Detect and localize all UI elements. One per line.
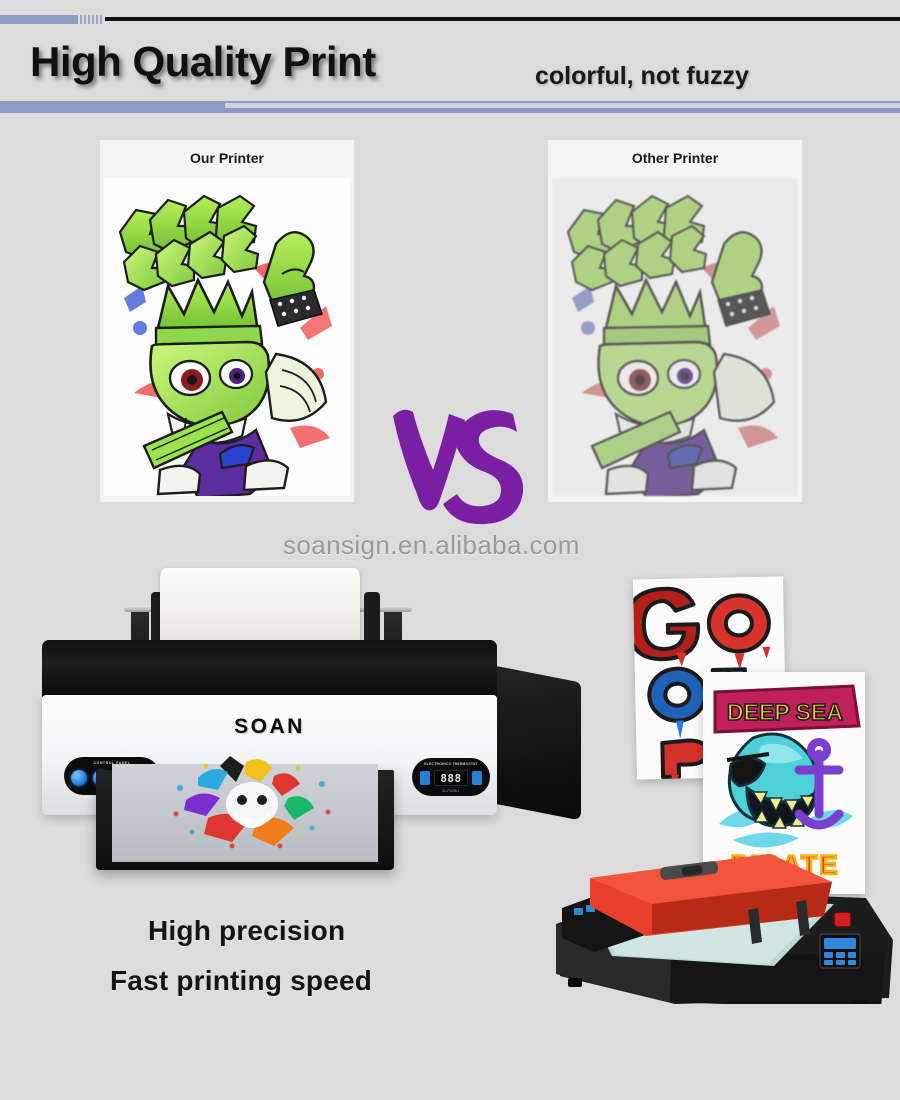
page-subtitle: colorful, not fuzzy <box>535 62 749 91</box>
panel-label-other-printer: Other Printer <box>548 150 802 166</box>
dtf-printer: SOAN CONTROL PANEL ELECTRONICS THERMOSTA… <box>36 515 606 895</box>
printer-side-housing <box>491 665 581 820</box>
printer-output-tray <box>96 770 394 870</box>
deep-sea-title-text: DEEP SEA <box>727 699 843 725</box>
caption-fast-printing-speed: Fast printing speed <box>110 965 372 997</box>
comparison-panel-our-printer: Our Printer <box>100 140 354 502</box>
bone-to-rock-artwork-fuzzy <box>552 178 798 496</box>
caption-high-precision: High precision <box>148 915 345 947</box>
header-bottom-bar-highlight <box>225 103 900 108</box>
thermostat-module[interactable]: ELECTRONICS THERMOSTAT 888 ZL-P100B-1 <box>412 758 490 796</box>
thermostat-display: 888 <box>434 770 468 786</box>
printer-brand-label: SOAN <box>42 715 497 739</box>
thermostat-label: ELECTRONICS THERMOSTAT <box>412 762 490 766</box>
vs-mark <box>385 392 525 532</box>
bone-to-rock-artwork-sharp <box>104 178 350 496</box>
page-title: High Quality Print <box>30 38 376 86</box>
header-stripe-decoration <box>80 15 102 24</box>
panel-label-our-printer: Our Printer <box>100 150 354 166</box>
comparison-panel-other-printer: Other Printer <box>548 140 802 502</box>
thermostat-model-label: ZL-P100B-1 <box>412 789 490 793</box>
watermark-url: soansign.en.alibaba.com <box>283 530 580 561</box>
thermostat-value: 888 <box>440 773 461 784</box>
header-accent-block <box>0 15 78 24</box>
banner-header: High Quality Print colorful, not fuzzy <box>0 0 900 122</box>
roll-hub-right <box>364 592 380 644</box>
product-banner: High Quality Print colorful, not fuzzy O… <box>0 0 900 1100</box>
control-button-1[interactable] <box>71 770 87 786</box>
output-film-sheet <box>112 764 378 862</box>
thermostat-decrease-button[interactable] <box>420 771 430 785</box>
powder-shaker-oven <box>552 852 897 1004</box>
header-black-rule <box>105 17 900 21</box>
comparison-section: Our Printer <box>0 140 900 515</box>
colorful-skull-print <box>162 754 342 854</box>
thermostat-increase-button[interactable] <box>472 771 482 785</box>
header-top-rule <box>0 15 900 24</box>
printer-lid <box>42 640 497 698</box>
